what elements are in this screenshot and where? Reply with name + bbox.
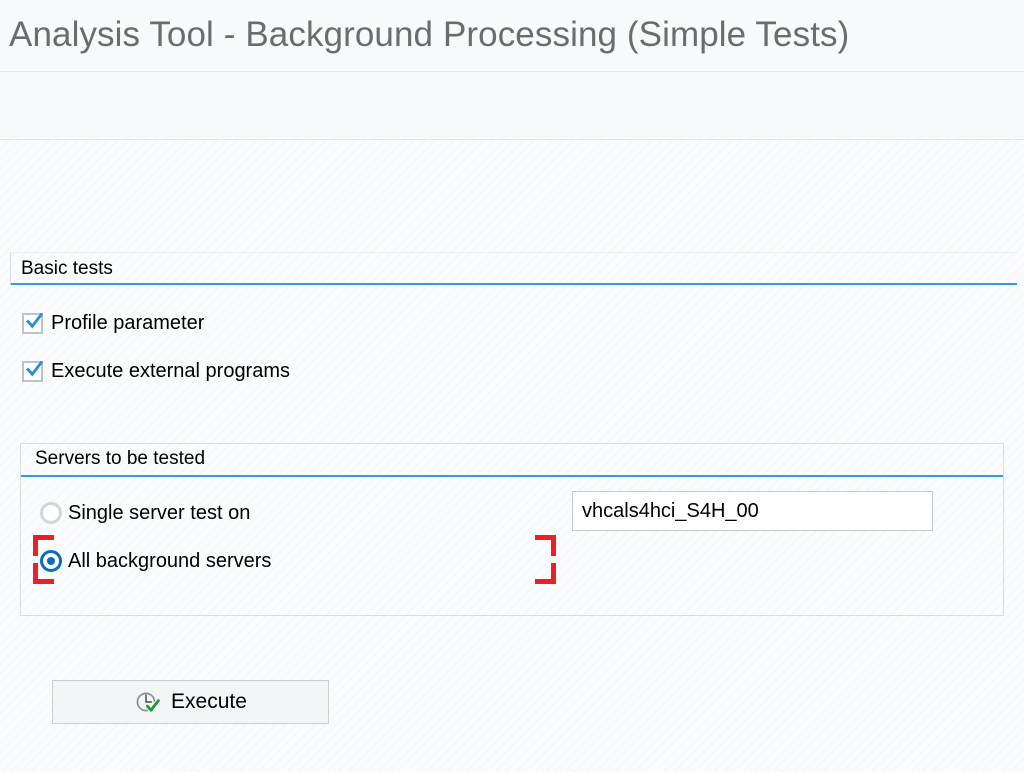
application-window: Analysis Tool - Background Processing (S… xyxy=(0,0,1024,772)
page-title: Analysis Tool - Background Processing (S… xyxy=(9,12,849,58)
checkbox-execute-external-programs[interactable] xyxy=(22,361,43,382)
servers-group-label: Servers to be tested xyxy=(35,446,205,472)
execute-button-label: Execute xyxy=(171,689,247,715)
radio-label-all-background-servers: All background servers xyxy=(68,548,271,574)
title-bar: Analysis Tool - Background Processing (S… xyxy=(0,0,1024,72)
radio-all-background-servers[interactable] xyxy=(40,550,62,572)
group-header-underline xyxy=(11,283,1017,285)
checkbox-label-profile-parameter: Profile parameter xyxy=(51,310,204,336)
checkbox-row-execute-external-programs[interactable]: Execute external programs xyxy=(22,358,290,384)
execute-button[interactable]: Execute xyxy=(52,680,329,724)
radio-single-server-test[interactable] xyxy=(40,502,62,524)
radio-row-single-server-test[interactable]: Single server test on xyxy=(40,500,250,526)
servers-group-header: Servers to be tested xyxy=(21,444,1003,477)
server-name-input[interactable] xyxy=(572,491,933,531)
group-header-underline xyxy=(21,475,1003,477)
check-icon xyxy=(26,313,43,330)
checkbox-label-execute-external-programs: Execute external programs xyxy=(51,358,290,384)
basic-tests-group-header: Basic tests xyxy=(10,252,1017,285)
toolbar xyxy=(0,72,1024,140)
basic-tests-panel: Basic tests xyxy=(10,252,1017,285)
basic-tests-group-label: Basic tests xyxy=(21,256,113,282)
checkbox-profile-parameter[interactable] xyxy=(22,313,43,334)
check-icon xyxy=(26,361,43,378)
radio-row-all-background-servers[interactable]: All background servers xyxy=(40,548,271,574)
clock-check-icon xyxy=(134,689,160,715)
radio-label-single-server-test: Single server test on xyxy=(68,500,250,526)
checkbox-row-profile-parameter[interactable]: Profile parameter xyxy=(22,310,204,336)
